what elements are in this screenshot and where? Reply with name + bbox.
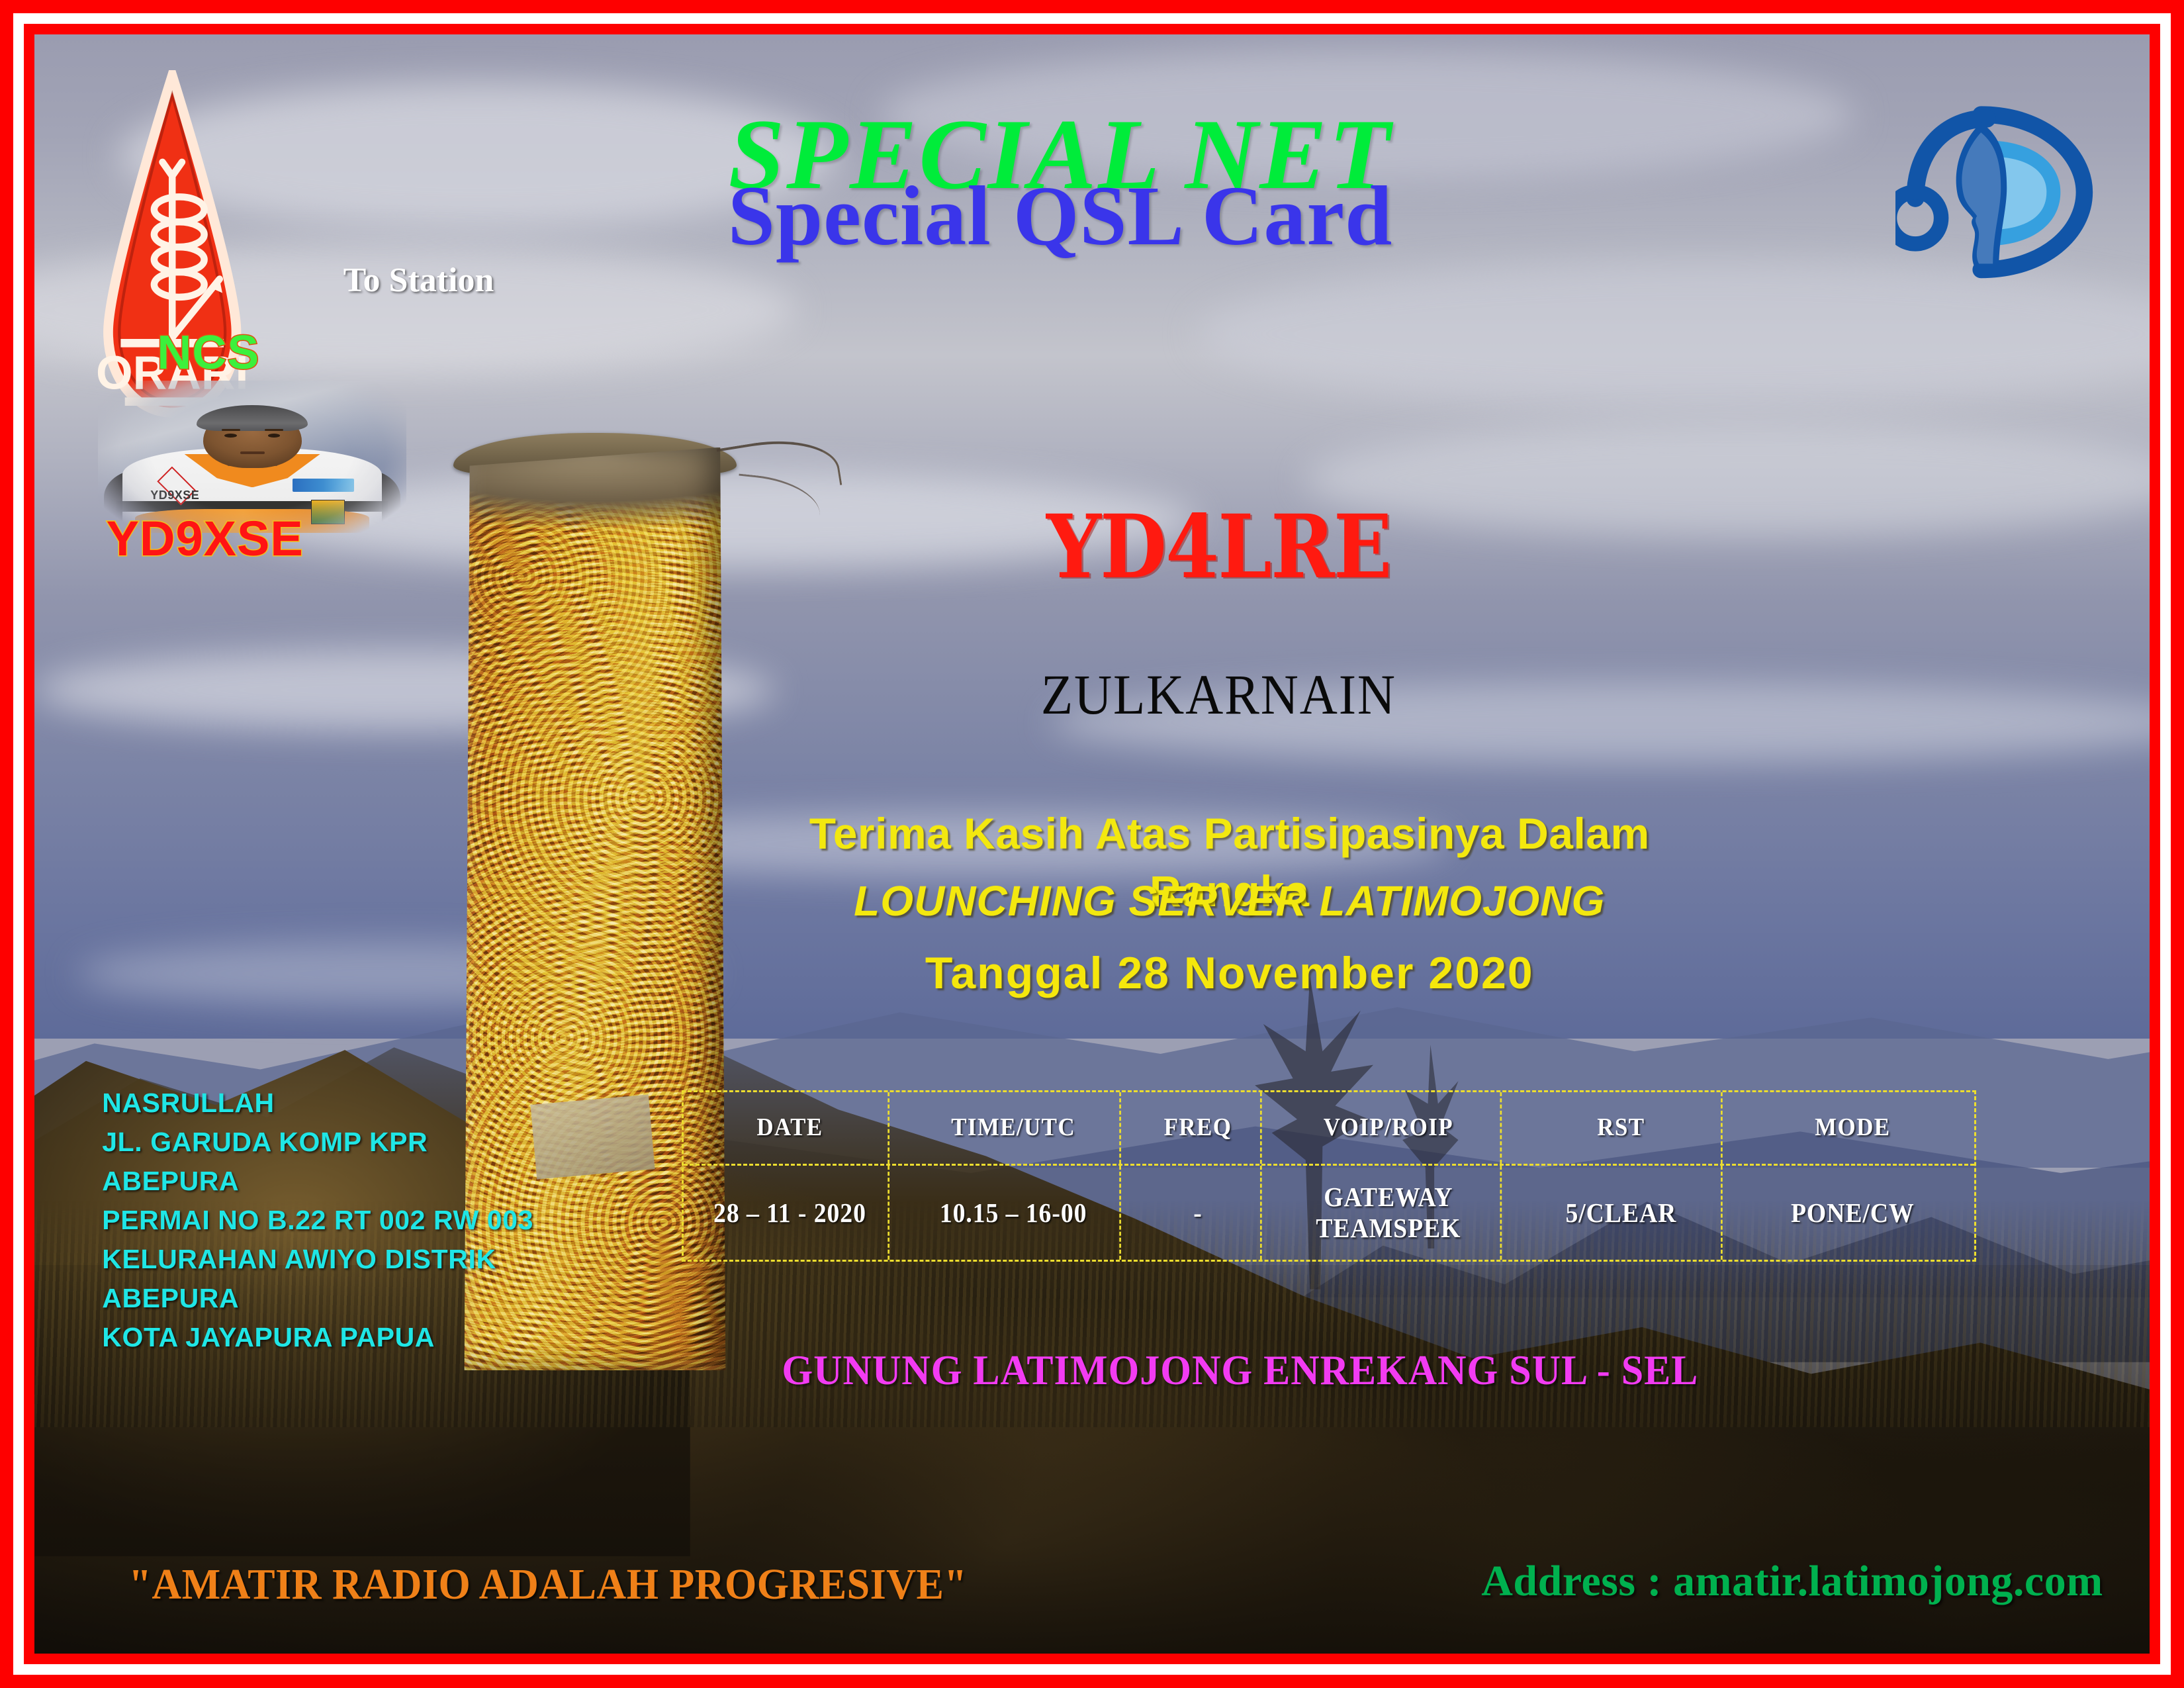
cell-voip-roip: GATEWAY TEAMSPEK — [1277, 1166, 1502, 1260]
cell-date: 28 – 11 - 2020 — [692, 1166, 889, 1260]
address-line: KOTA JAYAPURA PAPUA — [102, 1318, 758, 1357]
event-name: LOUNCHING SERVER LATIMOJONG — [743, 880, 1716, 922]
cell-freq: - — [1136, 1166, 1261, 1260]
cell-rst: 5/CLEAR — [1521, 1166, 1723, 1260]
cell-time-utc: 10.15 – 16-00 — [907, 1166, 1121, 1260]
qsl-card: ORARI SPECIAL NET Special QSL Card — [34, 34, 2150, 1654]
address-line: ABEPURA — [102, 1162, 758, 1201]
portrait-eyebrow-right — [265, 429, 283, 431]
web-address: Address : amatir.latimojong.com — [1481, 1556, 2103, 1607]
portrait-logo-patch — [293, 479, 354, 492]
recipient-callsign: YD4LRE — [921, 504, 1517, 591]
qsl-card-white-frame: ORARI SPECIAL NET Special QSL Card — [13, 13, 2171, 1675]
to-station-label: To Station — [343, 261, 494, 300]
portrait-eye-left — [224, 434, 237, 438]
portrait-eye-right — [268, 434, 281, 438]
sender-address-block: NASRULLAH JL. GARUDA KOMP KPR ABEPURA PE… — [102, 1084, 758, 1357]
table-header-row: DATE TIME/UTC FREQ VOIP/ROIP RST MODE — [684, 1092, 1974, 1166]
column-header-date: DATE — [692, 1092, 889, 1164]
ncs-callsign: YD9XSE — [107, 510, 304, 567]
column-header-rst: RST — [1521, 1092, 1723, 1164]
address-line: PERMAI NO B.22 RT 002 RW 003 — [102, 1201, 758, 1240]
radio-headphones-logo-icon — [1895, 65, 2094, 318]
qso-details-table: DATE TIME/UTC FREQ VOIP/ROIP RST MODE 28… — [682, 1090, 1976, 1262]
club-motto: "AMATIR RADIO ADALAH PROGRESIVE" — [129, 1560, 968, 1610]
address-line: KELURAHAN AWIYO DISTRIK — [102, 1240, 758, 1279]
table-row: 28 – 11 - 2020 10.15 – 16-00 - GATEWAY T… — [684, 1166, 1974, 1260]
cell-voip-roip-line1: GATEWAY — [1324, 1182, 1453, 1212]
portrait-shirt-callsign: YD9XSE — [150, 489, 199, 502]
address-line: ABEPURA — [102, 1279, 758, 1318]
ncs-role-label: NCS — [157, 326, 259, 380]
portrait-eyebrow-left — [222, 429, 240, 431]
column-header-voip-roip: VOIP/ROIP — [1277, 1092, 1502, 1164]
column-header-freq: FREQ — [1136, 1092, 1261, 1164]
location-caption: GUNUNG LATIMOJONG ENREKANG SUL - SEL — [663, 1346, 1816, 1395]
qsl-card-inner-red-frame: ORARI SPECIAL NET Special QSL Card — [24, 24, 2160, 1664]
column-header-time-utc: TIME/UTC — [907, 1092, 1121, 1164]
event-date: Tanggal 28 November 2020 — [743, 951, 1716, 996]
portrait-mouth — [240, 451, 265, 454]
qsl-card-outer-frame: ORARI SPECIAL NET Special QSL Card — [0, 0, 2184, 1688]
cell-voip-roip-line2: TEAMSPEK — [1316, 1213, 1461, 1243]
address-line: NASRULLAH — [102, 1084, 758, 1123]
page-subtitle: Special QSL Card — [468, 173, 1653, 258]
column-header-mode: MODE — [1741, 1092, 1964, 1164]
recipient-operator-name: ZULKARNAIN — [907, 666, 1530, 723]
portrait-id-card — [311, 500, 345, 524]
address-line: JL. GARUDA KOMP KPR — [102, 1123, 758, 1162]
cell-mode: PONE/CW — [1741, 1166, 1964, 1260]
